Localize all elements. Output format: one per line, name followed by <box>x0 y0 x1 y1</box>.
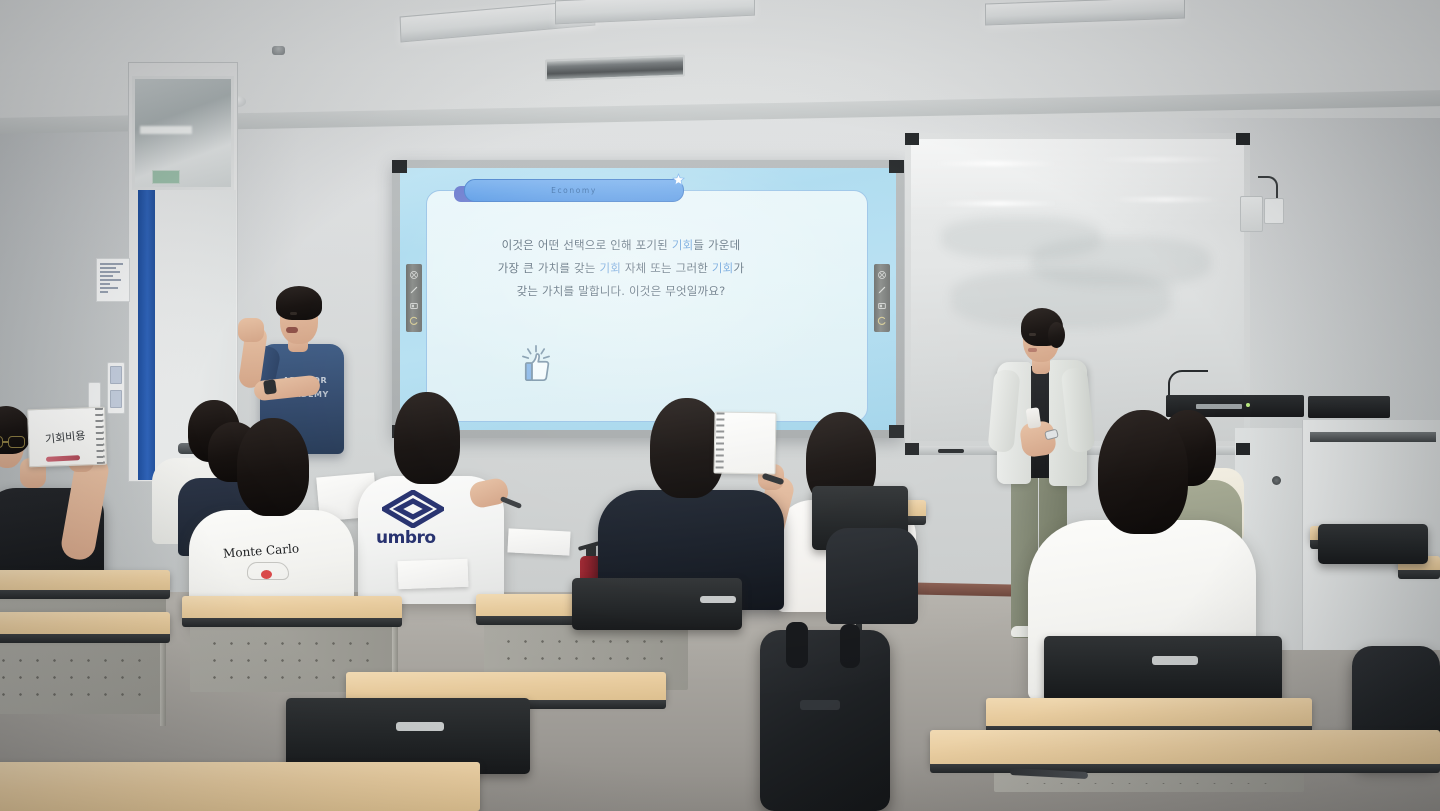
slide-line3-text: 갖는 가치를 말합니다. 이것은 무엇일까요? <box>517 284 726 298</box>
thumbs-up-icon <box>518 344 554 387</box>
projected-slide: Economy 이것은 어떤 선택으로 인해 포기된 기회들 가운데 가장 큰 … <box>400 168 896 430</box>
podium-microphone <box>1168 370 1208 398</box>
desk-surface <box>930 730 1440 766</box>
notepad-raised-spiral <box>715 412 724 472</box>
umbro-logo-icon <box>382 490 444 528</box>
whiteboard-corner-tr <box>1236 133 1250 145</box>
presenter-mouth <box>1028 348 1037 352</box>
star-icon <box>672 173 685 191</box>
desk-row0-nearest[interactable] <box>0 762 480 811</box>
standing-student-fist <box>238 318 264 342</box>
slide-toolbar-right[interactable] <box>874 264 890 332</box>
desk-surface <box>182 596 402 620</box>
undo-icon[interactable] <box>877 316 887 326</box>
desk-modesty-panel-row1-left <box>0 642 166 714</box>
desk-row0-nearest-right[interactable] <box>930 730 1440 766</box>
desk-edge <box>930 764 1440 773</box>
whiteboard-corner-tl <box>905 133 919 145</box>
target-icon[interactable] <box>409 270 419 280</box>
slide-line-1: 이것은 어떤 선택으로 인해 포기된 기회들 가운데 <box>430 234 812 257</box>
slide-line2-b: 자체 또는 그러한 <box>621 261 712 275</box>
slide-line-2: 가장 큰 가치를 갖는 기회 자체 또는 그러한 기회가 <box>430 257 812 280</box>
eraser-icon[interactable] <box>409 301 419 311</box>
wall-outlet <box>1264 198 1284 224</box>
classroom-photo: Economy 이것은 어떤 선택으로 인해 포기된 기회들 가운데 가장 큰 … <box>0 0 1440 811</box>
whiteboard-marker[interactable] <box>938 449 964 453</box>
slide-toolbar-left[interactable] <box>406 264 422 332</box>
desk-row2-center[interactable] <box>182 596 402 620</box>
student-monte-carlo-head <box>237 418 309 516</box>
slide-line2-a: 가장 큰 가치를 갖는 <box>498 261 600 275</box>
standing-student-wristwatch <box>263 379 277 395</box>
desk-edge <box>0 634 170 643</box>
pen-icon[interactable] <box>409 285 419 295</box>
desk-edge <box>182 618 402 627</box>
slide-line1-b: 들 가운데 <box>693 238 740 252</box>
standing-student-eye <box>290 312 297 315</box>
eyeglasses-icon <box>0 436 26 449</box>
desk-edge <box>0 590 170 599</box>
desk-surface <box>986 698 1312 728</box>
slide-question-text: 이것은 어떤 선택으로 인해 포기된 기회들 가운데 가장 큰 가치를 갖는 기… <box>430 234 812 303</box>
presenter-eye <box>1029 333 1036 336</box>
student-white-tee-right-head <box>1098 410 1188 534</box>
backpack-center-strap <box>786 622 808 668</box>
paper-on-desk-3[interactable] <box>507 528 570 555</box>
undo-icon[interactable] <box>409 316 419 326</box>
student-umbro-shirt-text: umbro <box>376 528 436 548</box>
podium-monitor-strip <box>1196 404 1242 409</box>
wall-speaker <box>1240 196 1263 232</box>
target-icon[interactable] <box>877 270 887 280</box>
slide-keyword-1: 기회 <box>672 238 694 252</box>
standing-student-hair <box>276 286 322 320</box>
desk-edge <box>1398 570 1440 579</box>
desk-leg-row1-left <box>160 636 166 726</box>
notepad-raised[interactable] <box>713 411 776 474</box>
notepad-spiral-binding <box>95 408 105 464</box>
slide-keyword-3: 기회 <box>712 261 734 275</box>
backpack-center[interactable] <box>760 630 890 811</box>
student-behind-backpack-top <box>826 528 918 624</box>
light-switch-1[interactable] <box>110 366 122 384</box>
cabinet-vent-slot <box>1310 432 1436 442</box>
slide-keyword-2: 기회 <box>599 261 621 275</box>
screen-corner-tl <box>392 160 407 173</box>
student-umbro-head <box>394 392 460 484</box>
slide-tab-label: Economy <box>551 186 597 195</box>
chair-back-mid-2[interactable] <box>1318 524 1428 564</box>
slide-card <box>426 190 868 422</box>
cabinet-lock-icon[interactable] <box>1272 476 1281 485</box>
corridor-sign <box>152 170 180 184</box>
desk-surface <box>0 570 170 592</box>
backpack-center-strap-2 <box>840 624 860 668</box>
wall-notice <box>96 258 130 302</box>
sprinkler-head <box>272 46 285 55</box>
backpack-center-logo <box>800 700 840 710</box>
transom-light-reflection <box>140 126 192 134</box>
tee-graphic-dot <box>261 570 272 579</box>
chair-handle-row1-center <box>396 722 444 731</box>
screen-corner-tr <box>889 160 904 173</box>
desk-row1-left[interactable] <box>0 612 170 636</box>
paper-on-desk-2[interactable] <box>398 559 469 589</box>
cabinet-monitor-1 <box>1308 396 1390 418</box>
presenter-hair-bun <box>1048 322 1065 348</box>
chair-back-row2-a[interactable] <box>572 578 742 630</box>
desk-row1-right[interactable] <box>986 698 1312 728</box>
slide-line2-c: 가 <box>733 261 744 275</box>
standing-student-mouth <box>286 327 298 333</box>
eraser-icon[interactable] <box>877 301 887 311</box>
pen-icon[interactable] <box>877 285 887 295</box>
chair-handle-row2-a <box>700 596 736 603</box>
desk-surface <box>0 762 480 811</box>
chair-back-row2-b[interactable] <box>1044 636 1282 702</box>
desk-row2-left[interactable] <box>0 570 170 592</box>
desk-surface <box>0 612 170 636</box>
slide-line-3: 갖는 가치를 말합니다. 이것은 무엇일까요? <box>430 280 812 303</box>
notepad-handwriting: 기회비용 <box>44 427 86 447</box>
podium-led-indicator <box>1246 403 1250 407</box>
student-seated-behind-backpack <box>826 508 922 628</box>
slide-line1-a: 이것은 어떤 선택으로 인해 포기된 <box>502 238 672 252</box>
slide-category-tab[interactable]: Economy <box>464 179 684 202</box>
chair-handle-row2-b <box>1152 656 1198 665</box>
